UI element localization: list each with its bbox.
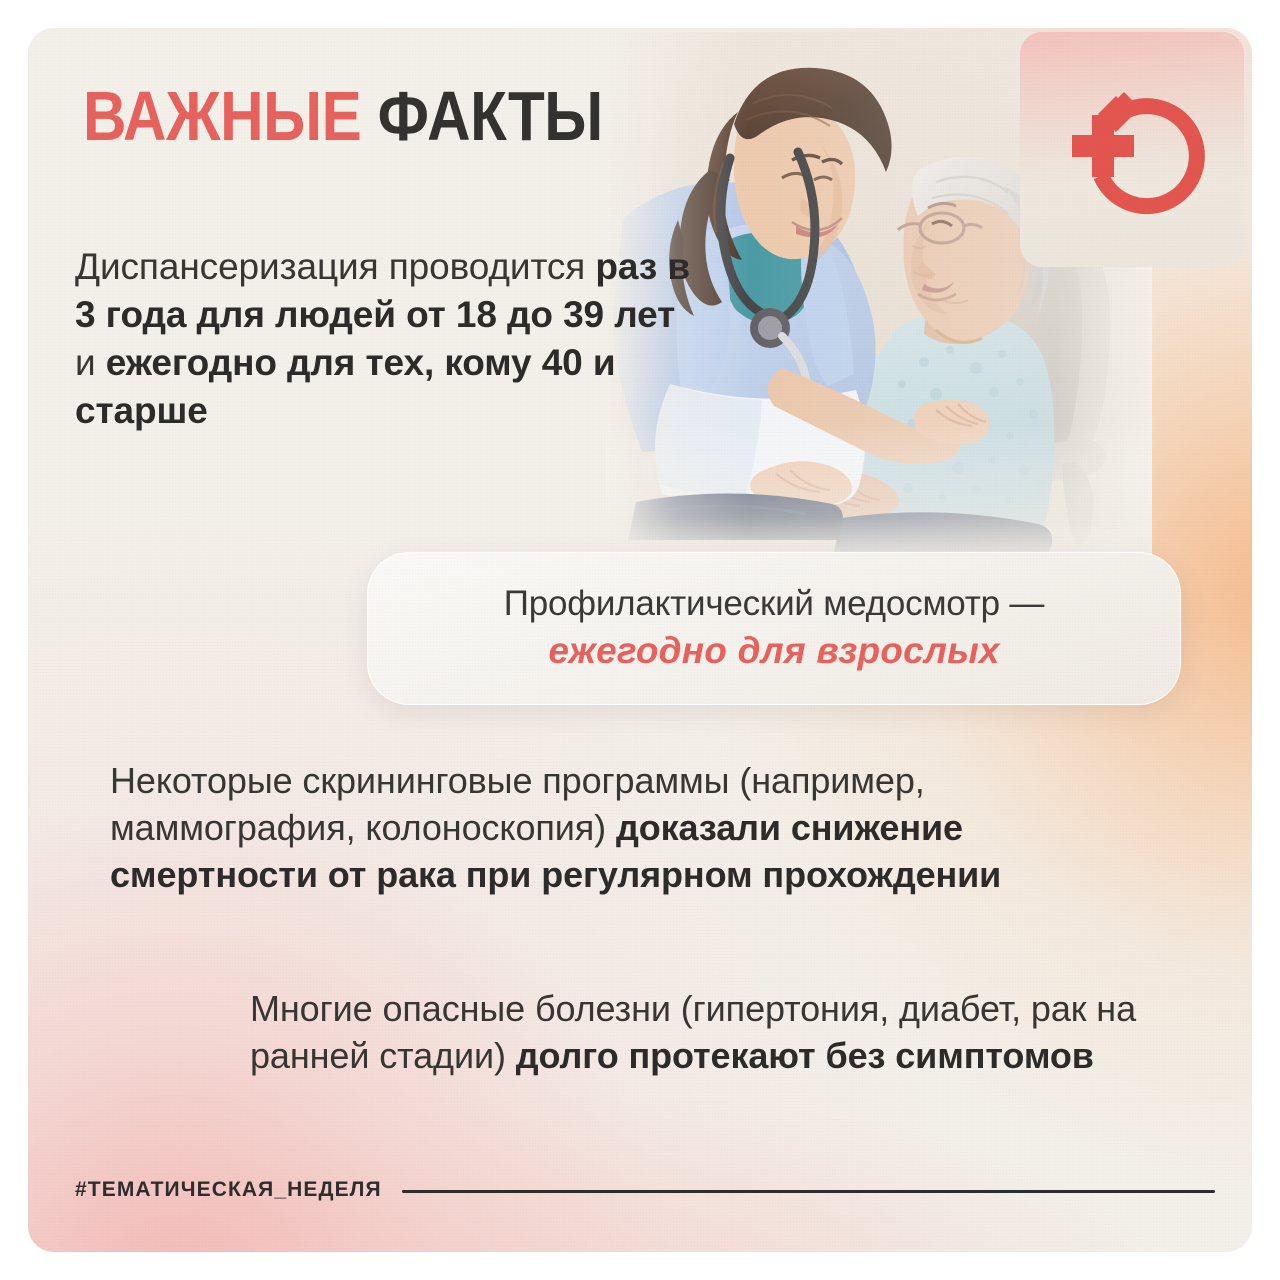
title-word-red: ВАЖНЫЕ (83, 77, 361, 155)
poster-card: ВАЖНЫЕ ФАКТЫ Диспансеризация проводится … (28, 28, 1252, 1252)
footer: #ТЕМАТИЧЕСКАЯ_НЕДЕЛЯ (75, 1178, 1215, 1202)
fact-screening: Некоторые скрининговые программы (наприм… (110, 758, 1010, 898)
medical-cross-refresh-icon (1054, 84, 1212, 234)
fact-frequency: Диспансеризация проводится раз в 3 года … (75, 243, 695, 435)
title-word-dark: ФАКТЫ (378, 77, 603, 155)
footer-divider (402, 1190, 1215, 1193)
highlight-card: Профилактический медосмотр — ежегодно дл… (367, 552, 1181, 705)
poster-frame: ВАЖНЫЕ ФАКТЫ Диспансеризация проводится … (0, 0, 1280, 1280)
highlight-card-line-1: Профилактический медосмотр — (504, 583, 1044, 624)
page-title: ВАЖНЫЕ ФАКТЫ (83, 81, 603, 151)
icon-badge-panel (1020, 32, 1244, 267)
hashtag-label: #ТЕМАТИЧЕСКАЯ_НЕДЕЛЯ (75, 1178, 382, 1202)
highlight-card-line-2: ежегодно для взрослых (548, 629, 999, 673)
fact-asymptomatic: Многие опасные болезни (гипертония, диаб… (250, 986, 1150, 1080)
